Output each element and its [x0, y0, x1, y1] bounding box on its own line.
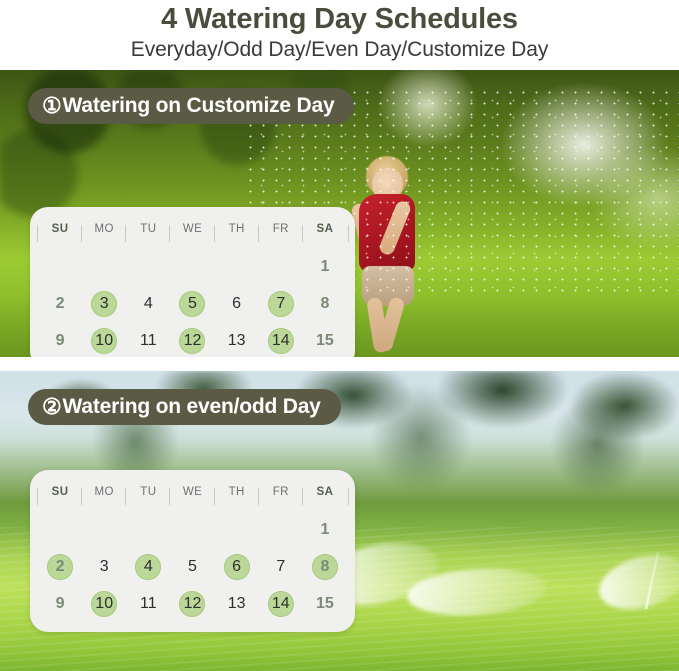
calendar-cell[interactable]: 2 — [38, 285, 82, 322]
calendar-day[interactable]: 3 — [91, 554, 117, 580]
calendar-cell[interactable]: 8 — [303, 548, 347, 585]
badge-customize-day: ① Watering on Customize Day — [28, 88, 354, 124]
calendar-day[interactable]: 9 — [47, 591, 73, 617]
child-shirt — [359, 194, 415, 272]
badge-number-icon: ① — [42, 93, 62, 119]
calendar-day[interactable]: 15 — [312, 591, 338, 617]
calendar-day[interactable]: 5 — [179, 554, 205, 580]
calendar-cell[interactable]: 14 — [259, 585, 303, 622]
weekday-su: SU — [38, 486, 82, 498]
sprinkler-spray-center — [406, 564, 549, 620]
calendar-weekday-header: SU MO TU WE TH FR SA — [38, 479, 347, 505]
weekday-th: TH — [215, 486, 259, 498]
panel-divider — [0, 357, 679, 371]
calendar-cell[interactable]: 5 — [170, 548, 214, 585]
calendar-cell — [82, 248, 126, 285]
calendar-cell[interactable]: 11 — [126, 585, 170, 622]
calendar-cell[interactable]: 10 — [82, 322, 126, 357]
child-arm-left — [378, 199, 413, 257]
calendar-weekday-header: SU MO TU WE TH FR SA — [38, 216, 347, 242]
calendar-day[interactable]: 13 — [224, 328, 250, 354]
calendar-day[interactable]: 6 — [224, 291, 250, 317]
calendar-cell — [259, 248, 303, 285]
badge-label: Watering on even/odd Day — [63, 395, 321, 419]
calendar-cell[interactable]: 9 — [38, 585, 82, 622]
calendar-day-selected[interactable]: 5 — [179, 291, 205, 317]
calendar-cell[interactable]: 1 — [303, 248, 347, 285]
calendar-cell[interactable]: 1 — [303, 511, 347, 548]
calendar-day-selected[interactable]: 7 — [268, 291, 294, 317]
calendar-cell[interactable]: 10 — [82, 585, 126, 622]
calendar-day[interactable]: 15 — [312, 328, 338, 354]
calendar-cell[interactable]: 6 — [215, 548, 259, 585]
calendar-cell[interactable]: 7 — [259, 285, 303, 322]
calendar-day-selected[interactable]: 14 — [268, 328, 294, 354]
page-title: 4 Watering Day Schedules — [161, 2, 518, 36]
calendar-day[interactable]: 1 — [312, 517, 338, 543]
calendar-cell[interactable]: 3 — [82, 285, 126, 322]
calendar-cell — [126, 511, 170, 548]
calendar-cell[interactable]: 12 — [170, 585, 214, 622]
calendar-day-grid: 123456789101112131415 — [38, 511, 347, 622]
child-figure — [346, 156, 432, 346]
calendar-cell[interactable]: 3 — [82, 548, 126, 585]
sprinkler-spray-right — [592, 546, 679, 619]
calendar-day-selected[interactable]: 4 — [135, 554, 161, 580]
calendar-card-even-odd: SU MO TU WE TH FR SA 1234567891011121314… — [30, 470, 355, 632]
weekday-su: SU — [38, 223, 82, 235]
calendar-day-selected[interactable]: 3 — [91, 291, 117, 317]
calendar-cell[interactable]: 2 — [38, 548, 82, 585]
calendar-cell — [170, 511, 214, 548]
sprinkler-jet-right — [645, 552, 659, 609]
calendar-cell[interactable]: 9 — [38, 322, 82, 357]
calendar-day-selected[interactable]: 2 — [47, 554, 73, 580]
calendar-cell[interactable]: 15 — [303, 585, 347, 622]
badge-even-odd-day: ② Watering on even/odd Day — [28, 389, 341, 425]
calendar-cell[interactable]: 8 — [303, 285, 347, 322]
weekday-tu: TU — [126, 223, 170, 235]
calendar-cell[interactable]: 7 — [259, 548, 303, 585]
calendar-day-selected[interactable]: 10 — [91, 328, 117, 354]
calendar-day[interactable]: 1 — [312, 254, 338, 280]
calendar-cell[interactable]: 14 — [259, 322, 303, 357]
weekday-th: TH — [215, 223, 259, 235]
page-header: 4 Watering Day Schedules Everyday/Odd Da… — [0, 0, 679, 70]
badge-number-icon: ② — [42, 394, 62, 420]
weekday-sa: SA — [303, 486, 347, 498]
calendar-cell — [126, 248, 170, 285]
calendar-day-selected[interactable]: 14 — [268, 591, 294, 617]
calendar-cell[interactable]: 15 — [303, 322, 347, 357]
calendar-day-selected[interactable]: 8 — [312, 554, 338, 580]
calendar-day-grid: 123456789101112131415 — [38, 248, 347, 357]
calendar-cell[interactable]: 11 — [126, 322, 170, 357]
calendar-day[interactable]: 4 — [135, 291, 161, 317]
panel-even-odd-day: ② Watering on even/odd Day SU MO TU WE T… — [0, 371, 679, 671]
calendar-day-selected[interactable]: 10 — [91, 591, 117, 617]
calendar-cell — [38, 511, 82, 548]
calendar-day[interactable]: 7 — [268, 554, 294, 580]
calendar-day[interactable]: 13 — [224, 591, 250, 617]
panel-customize-day: ① Watering on Customize Day SU MO TU WE … — [0, 70, 679, 357]
calendar-cell — [82, 511, 126, 548]
calendar-day[interactable]: 9 — [47, 328, 73, 354]
child-face — [372, 168, 403, 201]
calendar-cell[interactable]: 6 — [215, 285, 259, 322]
page-subtitle: Everyday/Odd Day/Even Day/Customize Day — [131, 36, 548, 63]
calendar-cell[interactable]: 13 — [215, 585, 259, 622]
calendar-cell — [38, 248, 82, 285]
weekday-we: WE — [170, 486, 214, 498]
calendar-day-selected[interactable]: 12 — [179, 591, 205, 617]
weekday-sa: SA — [303, 223, 347, 235]
calendar-day[interactable]: 11 — [135, 591, 161, 617]
calendar-cell[interactable]: 4 — [126, 285, 170, 322]
calendar-cell[interactable]: 13 — [215, 322, 259, 357]
badge-label: Watering on Customize Day — [63, 94, 335, 118]
calendar-day[interactable]: 11 — [135, 328, 161, 354]
calendar-day[interactable]: 2 — [47, 291, 73, 317]
weekday-mo: MO — [82, 223, 126, 235]
weekday-mo: MO — [82, 486, 126, 498]
calendar-cell[interactable]: 4 — [126, 548, 170, 585]
weekday-fr: FR — [259, 486, 303, 498]
calendar-card-customize: SU MO TU WE TH FR SA 1234567891011121314… — [30, 207, 355, 357]
calendar-cell — [259, 511, 303, 548]
calendar-cell[interactable]: 12 — [170, 322, 214, 357]
calendar-day[interactable]: 8 — [312, 291, 338, 317]
calendar-cell[interactable]: 5 — [170, 285, 214, 322]
calendar-day-selected[interactable]: 6 — [224, 554, 250, 580]
weekday-tu: TU — [126, 486, 170, 498]
calendar-cell — [215, 248, 259, 285]
weekday-we: WE — [170, 223, 214, 235]
child-hair — [366, 156, 408, 196]
weekday-fr: FR — [259, 223, 303, 235]
calendar-cell — [215, 511, 259, 548]
calendar-day-selected[interactable]: 12 — [179, 328, 205, 354]
calendar-cell — [170, 248, 214, 285]
